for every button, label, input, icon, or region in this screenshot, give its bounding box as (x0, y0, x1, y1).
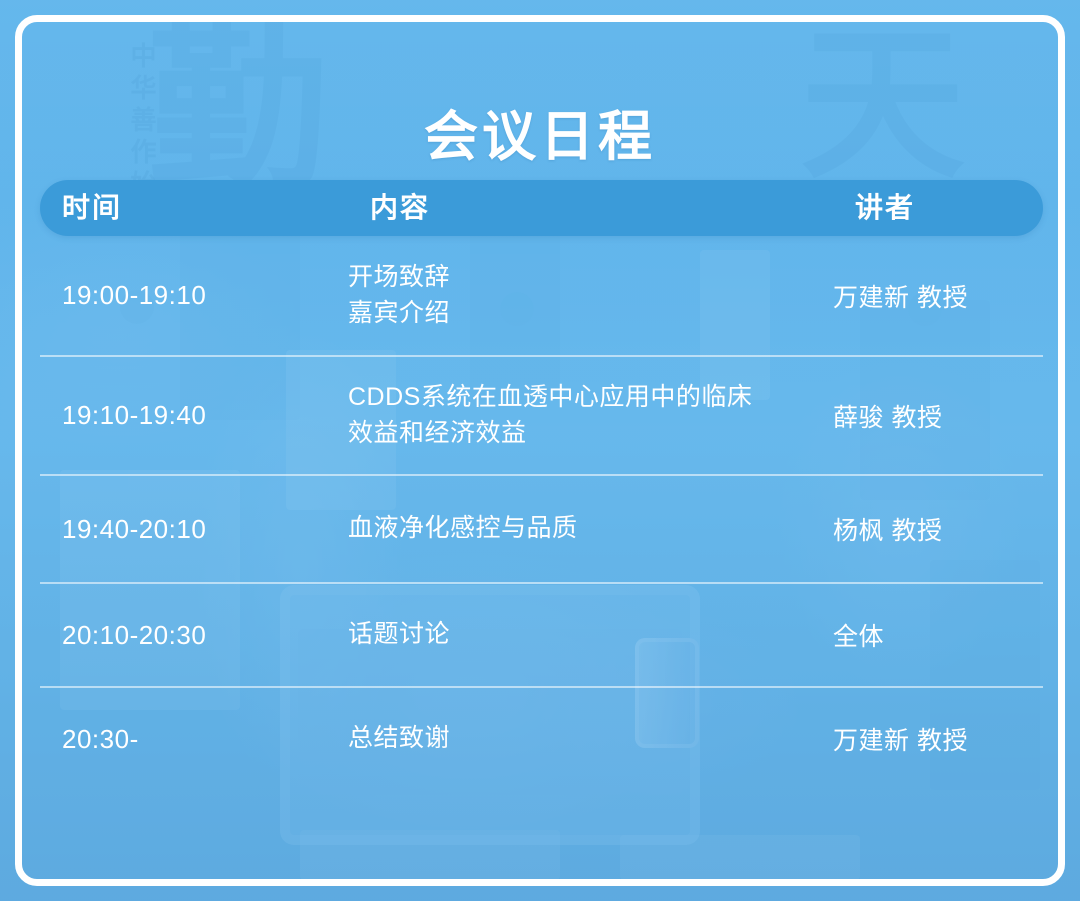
cell-time: 19:40-20:10 (40, 514, 348, 545)
cell-content: 血液净化感控与品质 (348, 511, 833, 547)
cell-time: 20:10-20:30 (40, 620, 348, 651)
cell-time: 20:30- (40, 724, 348, 755)
cell-speaker: 全体 (833, 617, 1043, 653)
agenda-table-body: 19:00-19:10 开场致辞 嘉宾介绍 万建新 教授 19:10-19:40… (40, 236, 1043, 790)
cell-content-line1: 开场致辞 (348, 263, 450, 291)
table-row: 20:10-20:30 话题讨论 全体 (40, 582, 1043, 686)
cell-content: CDDS系统在血透中心应用中的临床 效益和经济效益 (348, 380, 833, 451)
cell-content: 总结致谢 (348, 721, 833, 757)
cell-speaker: 万建新 教授 (833, 278, 1043, 314)
cell-content-line1: 血液净化感控与品质 (348, 514, 578, 542)
cell-content: 话题讨论 (348, 617, 833, 653)
cell-content-line2: 嘉宾介绍 (348, 296, 833, 332)
cell-speaker: 薛骏 教授 (833, 398, 1043, 434)
cell-speaker: 杨枫 教授 (833, 511, 1043, 547)
table-row: 19:00-19:10 开场致辞 嘉宾介绍 万建新 教授 (40, 236, 1043, 355)
cell-content-line1: CDDS系统在血透中心应用中的临床 (348, 383, 752, 411)
cell-content-line1: 话题讨论 (348, 620, 450, 648)
agenda-table-header: 时间 内容 讲者 (40, 180, 1043, 236)
page-title: 会议日程 (0, 92, 1080, 171)
conference-agenda-poster: 勤 天 中华善作始施 会议日程 时间 内容 讲者 19:00-19:10 开场致… (0, 0, 1080, 901)
column-header-time: 时间 (62, 180, 122, 236)
table-row: 19:10-19:40 CDDS系统在血透中心应用中的临床 效益和经济效益 薛骏… (40, 355, 1043, 474)
cell-content-line2: 效益和经济效益 (348, 416, 833, 452)
agenda-content: 会议日程 时间 内容 讲者 19:00-19:10 开场致辞 嘉宾介绍 万建新 … (0, 0, 1080, 901)
cell-content-line1: 总结致谢 (348, 724, 450, 752)
cell-content: 开场致辞 嘉宾介绍 (348, 260, 833, 331)
column-header-content: 内容 (370, 180, 430, 236)
table-row: 20:30- 总结致谢 万建新 教授 (40, 686, 1043, 790)
cell-time: 19:00-19:10 (40, 280, 348, 311)
table-row: 19:40-20:10 血液净化感控与品质 杨枫 教授 (40, 474, 1043, 582)
cell-speaker: 万建新 教授 (833, 721, 1043, 757)
cell-time: 19:10-19:40 (40, 400, 348, 431)
column-header-speaker: 讲者 (855, 180, 915, 236)
